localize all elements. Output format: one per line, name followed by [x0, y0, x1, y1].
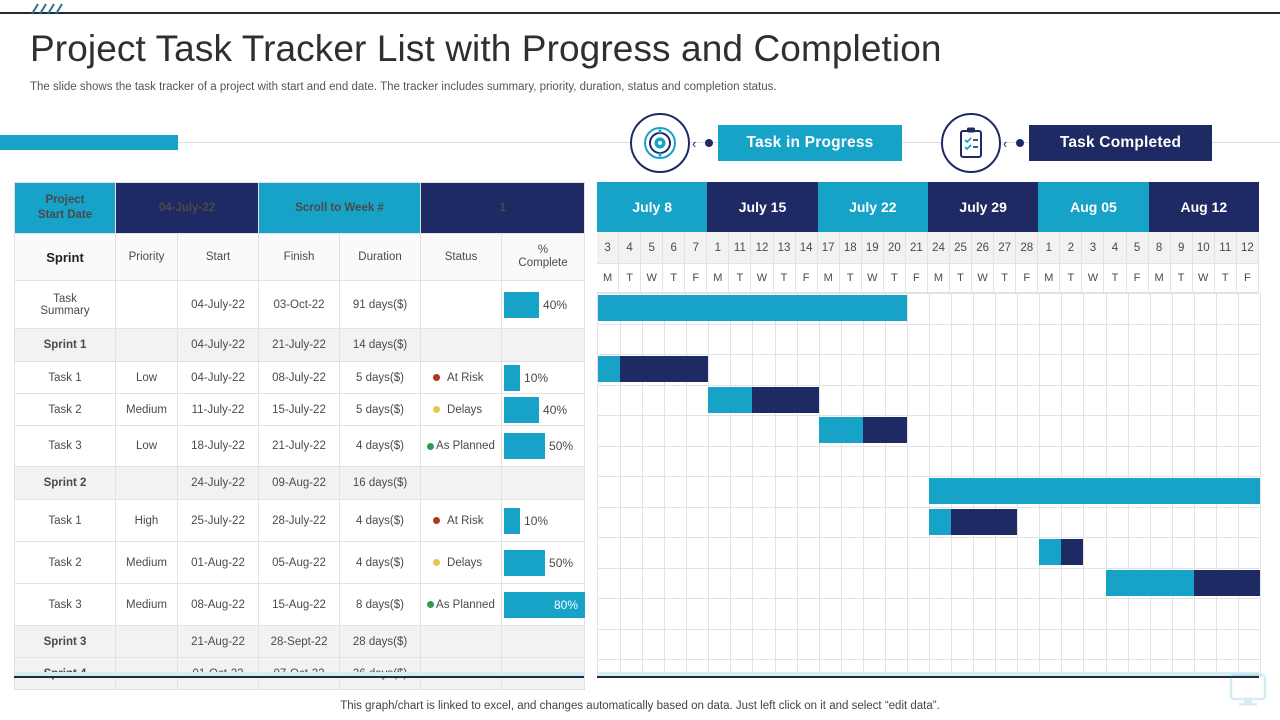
cell-priority	[116, 467, 178, 500]
cell-percent-complete	[502, 626, 585, 658]
cell-finish: 21-July-22	[259, 426, 340, 467]
gantt-day-number: 12	[751, 232, 773, 264]
progress-bar	[504, 550, 545, 576]
gantt-day-of-week: T	[1060, 264, 1082, 293]
status-dot	[433, 517, 440, 524]
cell-priority	[116, 626, 178, 658]
gantt-gridline-horizontal	[598, 415, 1259, 416]
cell-status: As Planned	[421, 584, 502, 626]
gantt-gridline-horizontal	[598, 568, 1259, 569]
cell-status: Delays	[421, 394, 502, 426]
gantt-day-number: 19	[862, 232, 884, 264]
footer-rule-right	[597, 676, 1259, 678]
column-header-complete: %Complete	[502, 234, 585, 281]
table-row: Task 3Medium08-Aug-2215-Aug-228 days($)A…	[15, 584, 585, 626]
cell-start: 04-July-22	[178, 281, 259, 329]
gantt-day-of-week: T	[1215, 264, 1237, 293]
gantt-gridline-horizontal	[598, 659, 1259, 660]
gantt-gridline-vertical	[863, 293, 864, 677]
cell-duration: 5 days($)	[340, 394, 421, 426]
gantt-gridline-vertical	[664, 293, 665, 677]
gantt-chart: July 8July 15July 22July 29Aug 05Aug 12 …	[597, 182, 1259, 677]
gantt-gridline-horizontal	[598, 629, 1259, 630]
gantt-bar-progress	[819, 417, 863, 443]
gantt-day-of-week: F	[796, 264, 818, 293]
gantt-gridline-vertical	[819, 293, 820, 677]
cell-status: As Planned	[421, 426, 502, 467]
gantt-day-number: 14	[796, 232, 818, 264]
legend-bullet-dot	[705, 139, 713, 147]
gantt-bar-progress	[929, 509, 951, 535]
gantt-gridline-vertical	[708, 293, 709, 677]
cell-duration: 14 days($)	[340, 329, 421, 362]
gantt-day-of-week: F	[1127, 264, 1149, 293]
cell-duration: 16 days($)	[340, 467, 421, 500]
cell-duration: 91 days($)	[340, 281, 421, 329]
gantt-day-number: 4	[1104, 232, 1126, 264]
status-dot	[427, 443, 434, 450]
control-bar-row: ProjectStart Date04-July-22Scroll to Wee…	[15, 183, 585, 234]
gantt-day-number: 2	[1060, 232, 1082, 264]
gantt-day-of-week: M	[597, 264, 619, 293]
gantt-gridline-horizontal	[598, 293, 1259, 294]
cell-start: 25-July-22	[178, 500, 259, 542]
scroll-to-week-value[interactable]: 1	[421, 183, 585, 234]
cell-priority: Low	[116, 426, 178, 467]
gantt-day-number: 6	[663, 232, 685, 264]
gantt-bar-progress	[1106, 570, 1194, 596]
progress-bar	[504, 433, 545, 459]
gantt-gridline-vertical	[686, 293, 687, 677]
clipboard-checklist-icon	[941, 113, 1001, 173]
gantt-day-of-week: F	[1237, 264, 1259, 293]
table-header-row: SprintPriorityStartFinishDurationStatus%…	[15, 234, 585, 281]
cell-status	[421, 329, 502, 362]
cell-duration: 4 days($)	[340, 500, 421, 542]
gantt-week-1: July 8	[597, 182, 707, 232]
cell-status: Delays	[421, 542, 502, 584]
gantt-day-number: 28	[1016, 232, 1038, 264]
gantt-gridline-vertical	[841, 293, 842, 677]
table-row: Task 2Medium11-July-2215-July-225 days($…	[15, 394, 585, 426]
chevron-left-icon: ‹	[692, 137, 696, 150]
cell-duration: 4 days($)	[340, 542, 421, 584]
gantt-gridline-vertical	[752, 293, 753, 677]
cell-priority: Low	[116, 362, 178, 394]
cell-sprint-name: Sprint 2	[15, 467, 116, 500]
gantt-day-of-week: M	[1149, 264, 1171, 293]
cell-finish: 08-July-22	[259, 362, 340, 394]
gantt-day-of-week: T	[619, 264, 641, 293]
cell-sprint-name: Task 1	[15, 500, 116, 542]
gantt-day-of-week: MTWTFMTWTFMTWTFMTWTFMTWTFMTWTF	[597, 264, 1259, 293]
gantt-day-of-week: M	[707, 264, 729, 293]
gantt-day-number: 3	[1082, 232, 1104, 264]
gantt-week-6: Aug 12	[1149, 182, 1259, 232]
cell-start: 04-July-22	[178, 329, 259, 362]
cell-start: 21-Aug-22	[178, 626, 259, 658]
progress-label: 10%	[520, 514, 548, 528]
cell-duration: 28 days($)	[340, 626, 421, 658]
column-header-status: Status	[421, 234, 502, 281]
gantt-day-of-week: T	[1104, 264, 1126, 293]
gantt-day-of-week: T	[994, 264, 1016, 293]
progress-bar	[504, 292, 539, 318]
gantt-bar-completed	[752, 387, 818, 413]
gantt-day-number: 5	[1127, 232, 1149, 264]
project-start-date-value[interactable]: 04-July-22	[116, 183, 259, 234]
cell-start: 01-Aug-22	[178, 542, 259, 584]
status-label: At Risk	[447, 372, 483, 384]
gantt-day-number: 21	[906, 232, 928, 264]
cell-sprint-name: Sprint 1	[15, 329, 116, 362]
status-dot	[427, 601, 434, 608]
cell-sprint-name: Task 3	[15, 584, 116, 626]
gantt-day-of-week: M	[928, 264, 950, 293]
column-header-sprint: Sprint	[15, 234, 116, 281]
gantt-day-of-week: M	[818, 264, 840, 293]
gantt-gridline-vertical	[730, 293, 731, 677]
table-row: Task 3Low18-July-2221-July-224 days($)As…	[15, 426, 585, 467]
sprint-row: Sprint 104-July-2221-July-2214 days($)	[15, 329, 585, 362]
gantt-gridline-vertical	[885, 293, 886, 677]
gantt-bar-completed	[620, 356, 708, 382]
monitor-watermark-icon	[1228, 672, 1268, 708]
cell-finish: 15-Aug-22	[259, 584, 340, 626]
footer-rule-left	[14, 676, 584, 678]
gantt-day-number: 17	[818, 232, 840, 264]
column-header-finish: Finish	[259, 234, 340, 281]
gantt-gridline-horizontal	[598, 324, 1259, 325]
gantt-bar-progress	[708, 387, 752, 413]
gantt-bar-completed	[1061, 539, 1083, 565]
gantt-day-number: 7	[685, 232, 707, 264]
cell-priority: Medium	[116, 584, 178, 626]
gantt-gridline-vertical	[797, 293, 798, 677]
progress-label: 80%	[550, 598, 578, 612]
progress-label: 50%	[545, 556, 573, 570]
table-row: Task 2Medium01-Aug-2205-Aug-224 days($)D…	[15, 542, 585, 584]
column-header-duration: Duration	[340, 234, 421, 281]
cell-priority: Medium	[116, 542, 178, 584]
legend-item-in-progress[interactable]: ‹ Task in Progress	[630, 113, 902, 173]
cell-percent-complete: 50%	[502, 542, 585, 584]
scroll-to-week-label: Scroll to Week #	[259, 183, 421, 234]
cell-sprint-name: Task 2	[15, 394, 116, 426]
cell-start: 24-July-22	[178, 467, 259, 500]
gantt-plot-area	[597, 293, 1259, 677]
gantt-day-of-week: F	[685, 264, 707, 293]
legend-label-in-progress: Task in Progress	[718, 125, 902, 161]
sprint-row: Sprint 224-July-2209-Aug-2216 days($)	[15, 467, 585, 500]
progress-label: 50%	[545, 439, 573, 453]
progress-label: 40%	[539, 298, 567, 312]
cell-percent-complete	[502, 329, 585, 362]
cell-sprint-name: Task 2	[15, 542, 116, 584]
cell-start: 08-Aug-22	[178, 584, 259, 626]
cell-status	[421, 626, 502, 658]
cell-finish: 28-Sept-22	[259, 626, 340, 658]
gear-target-icon	[630, 113, 690, 173]
top-rule	[0, 12, 1280, 14]
cell-start: 18-July-22	[178, 426, 259, 467]
gantt-day-number: 8	[1149, 232, 1171, 264]
cell-status	[421, 281, 502, 329]
gantt-week-5: Aug 05	[1038, 182, 1148, 232]
status-label: Delays	[447, 404, 482, 416]
gantt-day-number: 1	[707, 232, 729, 264]
status-dot	[433, 406, 440, 413]
gantt-day-of-week: W	[1193, 264, 1215, 293]
cell-priority: Medium	[116, 394, 178, 426]
cell-percent-complete: 40%	[502, 394, 585, 426]
chevron-left-icon: ‹	[1003, 137, 1007, 150]
column-header-start: Start	[178, 234, 259, 281]
gantt-day-of-week: W	[641, 264, 663, 293]
gantt-week-3: July 22	[818, 182, 928, 232]
status-label: At Risk	[447, 515, 483, 527]
gantt-week-header: July 8July 15July 22July 29Aug 05Aug 12	[597, 182, 1259, 232]
status-label: As Planned	[436, 440, 495, 452]
cell-status: At Risk	[421, 362, 502, 394]
cell-finish: 21-July-22	[259, 329, 340, 362]
gantt-day-of-week: F	[1016, 264, 1038, 293]
gantt-day-number: 10	[1193, 232, 1215, 264]
cell-sprint-name: Sprint 3	[15, 626, 116, 658]
table-row: Task 1Low04-July-2208-July-225 days($)At…	[15, 362, 585, 394]
gantt-day-number: 25	[950, 232, 972, 264]
cell-percent-complete: 10%	[502, 362, 585, 394]
cell-finish: 28-July-22	[259, 500, 340, 542]
gantt-day-number: 3	[597, 232, 619, 264]
gantt-day-number: 5	[641, 232, 663, 264]
gantt-day-number: 24	[928, 232, 950, 264]
gantt-gridline-vertical	[642, 293, 643, 677]
status-dot	[433, 374, 440, 381]
gantt-day-of-week: T	[884, 264, 906, 293]
gantt-day-number: 27	[994, 232, 1016, 264]
task-table: ProjectStart Date04-July-22Scroll to Wee…	[14, 182, 584, 677]
gantt-day-numbers: 3456711112131417181920212425262728123458…	[597, 232, 1259, 264]
page-title: Project Task Tracker List with Progress …	[30, 24, 1060, 74]
gantt-gridline-horizontal	[598, 507, 1259, 508]
cell-sprint-name: Task 1	[15, 362, 116, 394]
gantt-day-of-week: T	[663, 264, 685, 293]
gantt-day-of-week: T	[840, 264, 862, 293]
legend-accent-bar	[0, 135, 178, 150]
gantt-day-number: 20	[884, 232, 906, 264]
gantt-day-of-week: W	[972, 264, 994, 293]
cell-priority	[116, 329, 178, 362]
gantt-day-number: 11	[1215, 232, 1237, 264]
gantt-day-number: 11	[729, 232, 751, 264]
gantt-bar-progress	[1039, 539, 1061, 565]
cell-percent-complete: 80%	[502, 584, 585, 626]
gantt-day-of-week: T	[950, 264, 972, 293]
gantt-day-number: 9	[1171, 232, 1193, 264]
table-row: TaskSummary04-July-2203-Oct-2291 days($)…	[15, 281, 585, 329]
scribble-decoration	[28, 2, 90, 18]
gantt-day-number: 1	[1038, 232, 1060, 264]
gantt-day-of-week: T	[1171, 264, 1193, 293]
gantt-day-of-week: F	[906, 264, 928, 293]
cell-priority	[116, 281, 178, 329]
cell-percent-complete: 50%	[502, 426, 585, 467]
status-dot	[433, 559, 440, 566]
cell-priority: High	[116, 500, 178, 542]
gantt-week-4: July 29	[928, 182, 1038, 232]
gantt-day-number: 26	[972, 232, 994, 264]
progress-bar	[504, 365, 520, 391]
gantt-gridline-horizontal	[598, 537, 1259, 538]
cell-finish: 15-July-22	[259, 394, 340, 426]
gantt-gridline-horizontal	[598, 598, 1259, 599]
gantt-week-2: July 15	[707, 182, 817, 232]
column-header-priority: Priority	[116, 234, 178, 281]
table-row: Task 1High25-July-2228-July-224 days($)A…	[15, 500, 585, 542]
cell-finish: 05-Aug-22	[259, 542, 340, 584]
gantt-day-of-week: T	[729, 264, 751, 293]
gantt-gridline-vertical	[620, 293, 621, 677]
cell-duration: 8 days($)	[340, 584, 421, 626]
page-subtitle: The slide shows the task tracker of a pr…	[30, 80, 930, 95]
cell-status	[421, 467, 502, 500]
cell-percent-complete: 10%	[502, 500, 585, 542]
gantt-bar-completed	[951, 509, 1017, 535]
gantt-gridline-horizontal	[598, 446, 1259, 447]
legend-label-completed: Task Completed	[1029, 125, 1212, 161]
gantt-gridline-horizontal	[598, 354, 1259, 355]
sprint-row: Sprint 321-Aug-2228-Sept-2228 days($)	[15, 626, 585, 658]
gantt-day-number: 13	[774, 232, 796, 264]
cell-finish: 03-Oct-22	[259, 281, 340, 329]
gantt-bar-completed	[1194, 570, 1260, 596]
gantt-day-of-week: M	[1038, 264, 1060, 293]
progress-label: 10%	[520, 371, 548, 385]
footnote: This graph/chart is linked to excel, and…	[0, 700, 1280, 712]
gantt-bar-progress	[598, 356, 620, 382]
legend-bullet-dot	[1016, 139, 1024, 147]
cell-percent-complete: 40%	[502, 281, 585, 329]
status-label: As Planned	[436, 599, 495, 611]
gantt-day-of-week: W	[1082, 264, 1104, 293]
progress-bar	[504, 397, 539, 423]
cell-duration: 4 days($)	[340, 426, 421, 467]
cell-start: 11-July-22	[178, 394, 259, 426]
gantt-day-of-week: W	[862, 264, 884, 293]
gantt-gridline-horizontal	[598, 476, 1259, 477]
gantt-bar-progress	[929, 478, 1260, 504]
gantt-gridline-vertical	[775, 293, 776, 677]
cell-sprint-name: TaskSummary	[15, 281, 116, 329]
gantt-day-number: 12	[1237, 232, 1259, 264]
cell-percent-complete	[502, 467, 585, 500]
cell-status: At Risk	[421, 500, 502, 542]
gantt-day-of-week: T	[774, 264, 796, 293]
gantt-day-number: 4	[619, 232, 641, 264]
gantt-gridline-vertical	[1260, 293, 1261, 677]
gantt-bar-progress	[598, 295, 907, 321]
cell-finish: 09-Aug-22	[259, 467, 340, 500]
gantt-day-of-week: W	[751, 264, 773, 293]
status-label: Delays	[447, 557, 482, 569]
progress-bar	[504, 508, 520, 534]
project-start-date-label: ProjectStart Date	[15, 183, 116, 234]
cell-duration: 5 days($)	[340, 362, 421, 394]
gantt-gridline-horizontal	[598, 385, 1259, 386]
gantt-gridline-vertical	[907, 293, 908, 677]
gantt-bar-completed	[863, 417, 907, 443]
cell-sprint-name: Task 3	[15, 426, 116, 467]
legend-item-completed[interactable]: ‹ Task Completed	[941, 113, 1212, 173]
cell-start: 04-July-22	[178, 362, 259, 394]
progress-label: 40%	[539, 403, 567, 417]
gantt-day-number: 18	[840, 232, 862, 264]
